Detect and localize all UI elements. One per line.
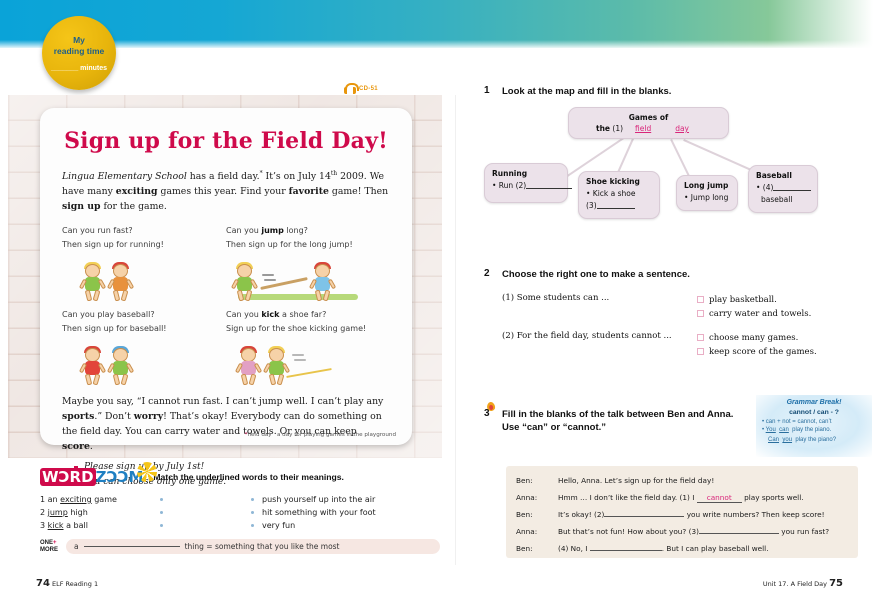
word-zoom-section: WƆRDZƆƆM Match the underlined words to t…: [40, 468, 440, 554]
option-row[interactable]: carry water and towels.: [697, 307, 811, 321]
grammar-ex2-modal: Can: [768, 437, 779, 443]
kick-q-pre: Can you: [226, 310, 261, 319]
option-row[interactable]: play basketball.: [697, 293, 811, 307]
line-post: play sports well.: [744, 493, 803, 502]
grammar-subheading: cannot / can - ?: [756, 409, 872, 416]
question-2-label: (2) For the field day, students cannot .…: [502, 331, 697, 359]
kid-figure: [264, 346, 290, 386]
item-number: 2: [40, 508, 45, 517]
para2-text-4: .: [90, 441, 93, 452]
grammar-heading: Grammar Break!: [756, 399, 872, 406]
passage-second-paragraph: Maybe you say, “I cannot run fast. I can…: [62, 394, 390, 454]
speed-line: [292, 354, 304, 356]
map-box-running: Running • Run (2): [484, 163, 568, 203]
map-root-prefix: the: [596, 124, 610, 133]
question-1-options: play basketball. carry water and towels.: [697, 293, 811, 321]
panel-kick-answer: Sign up for the shoe kicking game!: [226, 322, 390, 336]
dialogue-blank-3[interactable]: [699, 526, 779, 534]
kid-leg: [241, 374, 249, 386]
panel-running-answer: Then sign up for running!: [62, 238, 226, 252]
exercise-3-number: 3: [484, 408, 490, 419]
checkbox[interactable]: [697, 334, 704, 341]
page-number-right: 75: [829, 578, 843, 589]
match-left-term: 1 an exciting game: [40, 493, 150, 506]
map-box-item-2: baseball: [761, 195, 810, 204]
kid-leg: [113, 374, 121, 386]
speaker-name: Ben:: [516, 472, 558, 489]
checkbox[interactable]: [697, 296, 704, 303]
option-label: choose many games.: [709, 333, 798, 343]
kid-leg: [121, 374, 129, 386]
panel-running-question: Can you run fast?: [62, 224, 226, 238]
match-dot-right[interactable]: [251, 524, 254, 527]
map-box-title: Long jump: [684, 181, 730, 190]
speaker-text: It’s okay! (2) you write numbers? Then k…: [558, 506, 848, 523]
kid-head: [315, 264, 330, 278]
kick-q-post: a shoe far?: [279, 310, 326, 319]
option-label: carry water and towels.: [709, 309, 811, 319]
speaker-text: But that’s not fun! How about you? (3) y…: [558, 523, 848, 540]
grammar-example-1: • You can play the piano.: [756, 427, 872, 433]
kid-figure: [80, 346, 106, 386]
illustration-panel-row-2: Can you play baseball? Then sign up for …: [62, 308, 390, 390]
logo-zoom-part: ZƆƆM: [96, 468, 144, 486]
panel-baseball: Can you play baseball? Then sign up for …: [62, 308, 226, 390]
match-dot-left[interactable]: [160, 511, 163, 514]
grammar-break-box: Grammar Break! cannot / can - ? • can + …: [756, 395, 872, 457]
term-suffix: high: [68, 508, 88, 517]
underlined-word: exciting: [60, 495, 92, 504]
line-post: . But I can play baseball well.: [662, 544, 769, 553]
kid-leg: [315, 290, 323, 302]
badge-line-2: reading time: [54, 46, 105, 57]
line-pre: But that’s not fun! How about you? (3): [558, 527, 699, 536]
map-item-text: • (4): [756, 183, 773, 192]
speed-line: [264, 279, 276, 281]
keyword-favorite: favorite: [289, 186, 329, 197]
keyword-jump: jump: [261, 226, 284, 235]
one-more-label-top: ONE: [40, 540, 53, 546]
match-row[interactable]: 1 an exciting game push yourself up into…: [40, 493, 440, 506]
page-gutter-divider: [455, 95, 456, 565]
grammar-example-2: Can you play the piano?: [756, 437, 872, 443]
illustration-panel-row-1: Can you run fast? Then sign up for runni…: [62, 224, 390, 306]
line-pre: (4) No, I: [558, 544, 587, 553]
one-more-answer-bar[interactable]: a thing = something that you like the mo…: [66, 539, 440, 554]
map-box-title: Running: [492, 169, 560, 178]
kid-leg: [121, 290, 129, 302]
panel-shoe-kicking: Can you kick a shoe far? Sign up for the…: [226, 308, 390, 390]
audio-track-marker: CD-51: [344, 83, 378, 94]
exercise-2: 2 Choose the right one to make a sentenc…: [484, 268, 864, 359]
right-page: 1 Look at the map and fill in the blanks…: [478, 0, 873, 612]
kid-head: [113, 348, 128, 362]
dialogue-blank-4[interactable]: [590, 543, 662, 551]
exercise-2-title: Choose the right one to make a sentence.: [502, 268, 864, 281]
checkbox[interactable]: [697, 348, 704, 355]
panel-baseball-answer: Then sign up for baseball!: [62, 322, 226, 336]
illustration-running-kids: [80, 256, 226, 302]
kid-head: [85, 348, 100, 362]
map-box-title: Baseball: [756, 171, 810, 180]
panel-long-jump: Can you jump long? Then sign up for the …: [226, 224, 390, 306]
kid-leg: [245, 290, 253, 302]
plus-icon: +: [53, 540, 57, 546]
speaker-name: Ben:: [516, 540, 558, 557]
logo-word-part: WƆRD: [40, 468, 96, 486]
map-box-item: • (4): [756, 183, 810, 192]
kid-leg: [323, 290, 331, 302]
illustration-baseball-kids: [80, 340, 226, 386]
speaker-text: Hello, Anna. Let’s sign up for the field…: [558, 472, 848, 489]
map-box-item: • Jump long: [684, 193, 730, 202]
my-reading-time-badge: My reading time _______ minutes: [42, 16, 116, 90]
speed-line: [262, 274, 274, 276]
underlined-word: jump: [48, 508, 68, 517]
intro-text-7: for the game.: [101, 201, 167, 212]
speed-line: [294, 359, 306, 361]
speaker-text: (4) No, I . But I can play baseball well…: [558, 540, 848, 557]
map-box-root: Games of the (1)fieldday: [568, 107, 729, 139]
kid-figure: [236, 346, 262, 386]
one-more-prefix: a: [74, 542, 79, 551]
jump-q-post: long?: [284, 226, 308, 235]
kid-leg: [237, 290, 245, 302]
word-map-diagram: Games of the (1)fieldday Running • Run (…: [484, 107, 873, 212]
flying-shoe-trail: [292, 346, 338, 386]
match-row[interactable]: 2 jump high hit something with your foot: [40, 506, 440, 519]
option-label: play basketball.: [709, 295, 777, 305]
match-left-term: 2 jump high: [40, 506, 150, 519]
map-blank-input[interactable]: [773, 183, 811, 191]
map-root-heading: Games of: [576, 113, 721, 122]
map-root-number: (1): [612, 124, 623, 133]
one-more-suffix: thing = something that you like the most: [185, 542, 340, 551]
match-right-meaning: push yourself up into the air: [262, 493, 375, 506]
panel-jump-answer: Then sign up for the long jump!: [226, 238, 390, 252]
exercise-2-question-1: (1) Some students can ... play basketbal…: [502, 293, 864, 321]
map-box-long-jump: Long jump • Jump long: [676, 175, 738, 211]
item-number: 1: [40, 495, 45, 504]
footnote-term: field day: [247, 432, 271, 438]
keyword-worry: worry: [134, 411, 163, 422]
match-right-meaning: hit something with your foot: [262, 506, 376, 519]
line-pre: Hmm … I don’t like the field day. (1) I: [558, 493, 694, 502]
speaker-name: Anna:: [516, 489, 558, 506]
headphones-icon: [344, 83, 356, 94]
kid-figure: [310, 262, 336, 302]
kid-leg: [249, 374, 257, 386]
one-more-badge: ONE+ MORE: [40, 540, 66, 554]
intro-text-5: games this year. Find your: [158, 186, 289, 197]
map-blank-input[interactable]: [526, 181, 572, 189]
term-suffix: a ball: [64, 521, 88, 530]
grammar-ex1-modal: can: [779, 427, 789, 433]
keyword-sign-up: sign up: [62, 201, 101, 212]
illustration-long-jump: [232, 256, 390, 302]
kid-head: [269, 348, 284, 362]
passage-intro-paragraph: Lingua Elementary School has a field day…: [62, 166, 390, 214]
speaker-text: Hmm … I don’t like the field day. (1) I …: [558, 489, 848, 506]
match-dot-left[interactable]: [160, 498, 163, 501]
kid-figure: [232, 262, 258, 302]
word-zoom-header: WƆRDZƆƆM Match the underlined words to t…: [40, 468, 440, 486]
map-box-baseball: Baseball • (4) baseball: [748, 165, 818, 213]
para2-text-1: Maybe you say, “I cannot run fast. I can…: [62, 396, 383, 407]
exercise-2-number: 2: [484, 268, 490, 279]
intro-text-2: has a field day.: [187, 171, 260, 182]
kid-head: [241, 348, 256, 362]
line-pre: It’s okay! (2): [558, 510, 604, 519]
kid-leg: [277, 374, 285, 386]
keyword-score: score: [62, 441, 90, 452]
map-box-item-2: (3): [586, 201, 652, 210]
item-number: 3: [40, 521, 45, 530]
map-item-number: (3): [586, 201, 597, 210]
badge-line-1: My: [73, 35, 85, 46]
jump-q-pre: Can you: [226, 226, 261, 235]
panel-kick-question: Can you kick a shoe far?: [226, 308, 390, 322]
question-2-options: choose many games. keep score of the gam…: [697, 331, 817, 359]
grammar-ex1-rest: play the piano.: [792, 427, 831, 433]
grammar-rule: • can + not = cannot, can’t: [756, 419, 872, 425]
grammar-ex2-rest: play the piano?: [795, 437, 836, 443]
dialogue-line: Ben: (4) No, I . But I can play baseball…: [516, 540, 848, 557]
kid-head: [85, 264, 100, 278]
match-row[interactable]: 3 kick a ball very fun: [40, 519, 440, 532]
book-title-left: ELF Reading 1: [52, 580, 98, 588]
keyword-kick: kick: [261, 310, 279, 319]
kid-figure: [108, 262, 134, 302]
exercise-1-title: Look at the map and fill in the blanks.: [502, 85, 864, 98]
map-item-text: • Run (2): [492, 181, 526, 190]
word-zoom-instruction: Match the underlined words to their mean…: [153, 472, 344, 482]
kid-head: [113, 264, 128, 278]
term-suffix: game: [92, 495, 117, 504]
passage-title: Sign up for the Field Day!: [62, 128, 390, 154]
match-right-meaning: very fun: [262, 519, 295, 532]
map-box-item: • Kick a shoe: [586, 189, 652, 198]
one-more-label-bottom: MORE: [40, 547, 58, 553]
map-answer-2[interactable]: day: [663, 124, 701, 133]
map-box-shoe-kicking: Shoe kicking • Kick a shoe (3): [578, 171, 660, 219]
match-left-term: 3 kick a ball: [40, 519, 150, 532]
option-row[interactable]: choose many games.: [697, 331, 817, 345]
footer-right: Unit 17. A Field Day 75: [763, 578, 843, 589]
dialogue-line: Anna: But that’s not fun! How about you?…: [516, 523, 848, 540]
illustration-shoe-kicking: [236, 340, 390, 386]
kid-figure: [80, 262, 106, 302]
grammar-ex1-subject: You: [766, 427, 776, 433]
intro-text-3: It’s on July 14: [263, 171, 331, 182]
kid-leg: [93, 290, 101, 302]
exercise-1: 1 Look at the map and fill in the blanks…: [484, 85, 864, 98]
kid-leg: [113, 290, 121, 302]
jump-bar-and-speedlines: [260, 262, 308, 302]
question-1-label: (1) Some students can ...: [502, 293, 697, 321]
line-post: you write numbers? Then keep score!: [687, 510, 825, 519]
unit-title-right: Unit 17. A Field Day: [763, 580, 827, 588]
page-number-left: 74: [36, 578, 50, 589]
match-dot-right[interactable]: [251, 511, 254, 514]
reading-passage-card: Sign up for the Field Day! Lingua Elemen…: [40, 108, 412, 445]
keyword-exciting: exciting: [116, 186, 158, 197]
audio-track-label: CD-51: [359, 86, 378, 92]
para2-text-2: .” Don’t: [94, 411, 133, 422]
school-name: Lingua Elementary School: [62, 171, 187, 182]
kid-leg: [93, 374, 101, 386]
keyword-sports: sports: [62, 411, 94, 422]
footnote-definition: a day for playing games in the playgroun…: [277, 432, 396, 438]
one-more-blank-input[interactable]: [84, 546, 180, 547]
dialogue-blank-2[interactable]: [604, 509, 684, 517]
match-dot-left[interactable]: [160, 524, 163, 527]
shoe-arc: [286, 368, 332, 378]
speaker-name: Ben:: [516, 506, 558, 523]
passage-footnote: *field day a day for playing games in th…: [245, 432, 396, 438]
map-blank-input[interactable]: [597, 201, 635, 209]
map-box-item: • Run (2): [492, 181, 560, 190]
map-answer-1[interactable]: field: [623, 124, 663, 133]
word-matching-rows: 1 an exciting game push yourself up into…: [40, 493, 440, 532]
kid-head: [237, 264, 252, 278]
kid-leg: [85, 290, 93, 302]
match-dot-right[interactable]: [251, 498, 254, 501]
map-box-title: Shoe kicking: [586, 177, 652, 186]
underlined-word: kick: [48, 521, 64, 530]
dialogue-line: Ben: It’s okay! (2) you write numbers? T…: [516, 506, 848, 523]
speaker-name: Anna:: [516, 523, 558, 540]
dialogue-answer-1[interactable]: cannot: [697, 493, 742, 503]
exercise-3: 3 Fill in the blanks of the talk between…: [484, 408, 872, 434]
exercise-2-question-2: (2) For the field day, students cannot .…: [502, 331, 864, 359]
term-prefix: an: [48, 495, 61, 504]
checkbox[interactable]: [697, 310, 704, 317]
intro-text-6: game! Then: [329, 186, 388, 197]
one-more-section: ONE+ MORE a thing = something that you l…: [40, 539, 440, 554]
panel-running: Can you run fast? Then sign up for runni…: [62, 224, 226, 306]
dialogue-box: Ben: Hello, Anna. Let’s sign up for the …: [506, 466, 858, 558]
option-row[interactable]: keep score of the games.: [697, 345, 817, 359]
panel-baseball-question: Can you play baseball?: [62, 308, 226, 322]
kid-leg: [269, 374, 277, 386]
kid-leg: [85, 374, 93, 386]
footer-left: 74 ELF Reading 1: [36, 578, 98, 589]
grammar-ex2-subject: you: [782, 437, 792, 443]
kid-figure: [108, 346, 134, 386]
badge-minutes-blank: _______ minutes: [51, 65, 107, 72]
dialogue-line: Anna: Hmm … I don’t like the field day. …: [516, 489, 848, 506]
line-post: you run fast?: [781, 527, 829, 536]
exercise-1-number: 1: [484, 85, 490, 96]
dialogue-line: Ben: Hello, Anna. Let’s sign up for the …: [516, 472, 848, 489]
option-label: keep score of the games.: [709, 347, 817, 357]
map-root-blanks: the (1)fieldday: [576, 124, 721, 133]
word-zoom-logo: WƆRDZƆƆM: [40, 468, 143, 486]
panel-jump-question: Can you jump long?: [226, 224, 390, 238]
